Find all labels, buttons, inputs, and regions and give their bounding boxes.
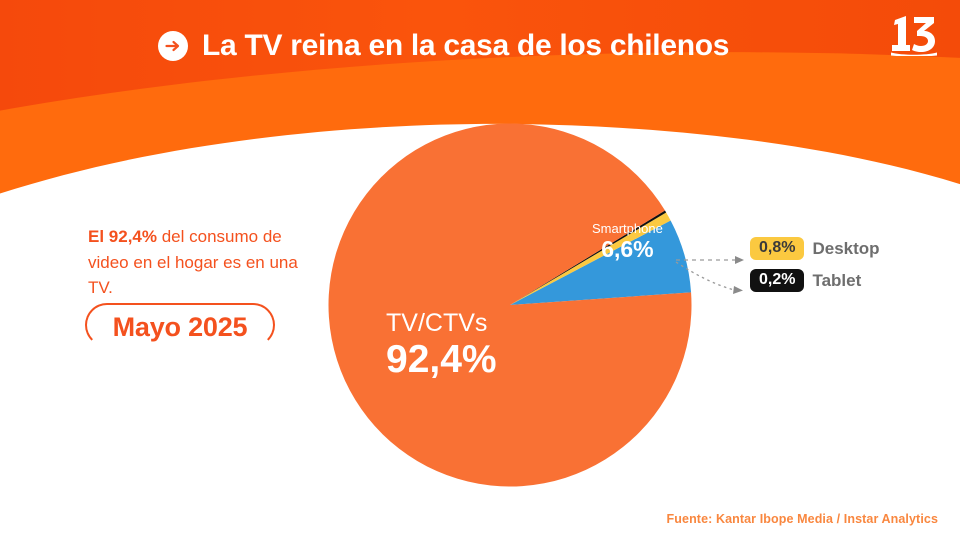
slice-label-tv-ctvs-category: TV/CTVs (386, 310, 497, 336)
slice-label-tv-ctvs-value: 92,4% (386, 340, 497, 381)
slice-label-smartphone-category: Smartphone (592, 222, 663, 236)
slide-canvas: La TV reina en la casa de los chilenos E… (0, 0, 960, 540)
callout-desktop-label: Desktop (812, 240, 879, 257)
callout-tablet-value: 0,2% (750, 269, 804, 292)
source-note: Fuente: Kantar Ibope Media / Instar Anal… (667, 512, 938, 526)
slice-label-smartphone: Smartphone 6,6% (592, 222, 663, 261)
slice-label-smartphone-value: 6,6% (592, 237, 663, 261)
slice-label-tv-ctvs: TV/CTVs 92,4% (386, 310, 497, 381)
pie-slice-tv-ctvs (329, 123, 692, 486)
callout-desktop-value: 0,8% (750, 237, 804, 260)
callout-desktop: 0,8% Desktop (750, 237, 880, 260)
leader-arrowheads (733, 256, 744, 294)
callout-tablet: 0,2% Tablet (750, 269, 861, 292)
callout-tablet-label: Tablet (812, 272, 861, 289)
